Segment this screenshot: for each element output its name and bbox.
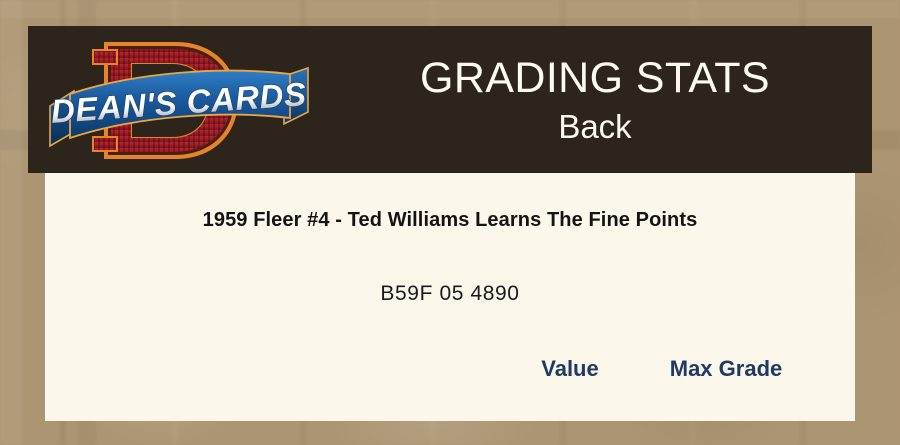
card-title: 1959 Fleer #4 - Ted Williams Learns The … (45, 209, 855, 232)
content-panel: 1959 Fleer #4 - Ted Williams Learns The … (45, 173, 855, 421)
page-subtitle: Back (558, 107, 631, 147)
stats-table-header: Value Max Grade (45, 354, 855, 384)
grading-stats-page: DEAN'S CARDS GRADING STATS Back 1959 Fle… (0, 0, 900, 445)
header-bar: DEAN'S CARDS GRADING STATS Back (28, 26, 872, 173)
page-title: GRADING STATS (420, 53, 770, 103)
column-header-value: Value (515, 354, 625, 384)
column-header-max-grade: Max Grade (640, 354, 812, 384)
deans-cards-logo[interactable]: DEAN'S CARDS (48, 28, 310, 173)
logo-banner-text: DEAN'S CARDS (50, 75, 308, 130)
header-title-block: GRADING STATS Back (318, 26, 872, 173)
card-code: B59F 05 4890 (45, 282, 855, 306)
